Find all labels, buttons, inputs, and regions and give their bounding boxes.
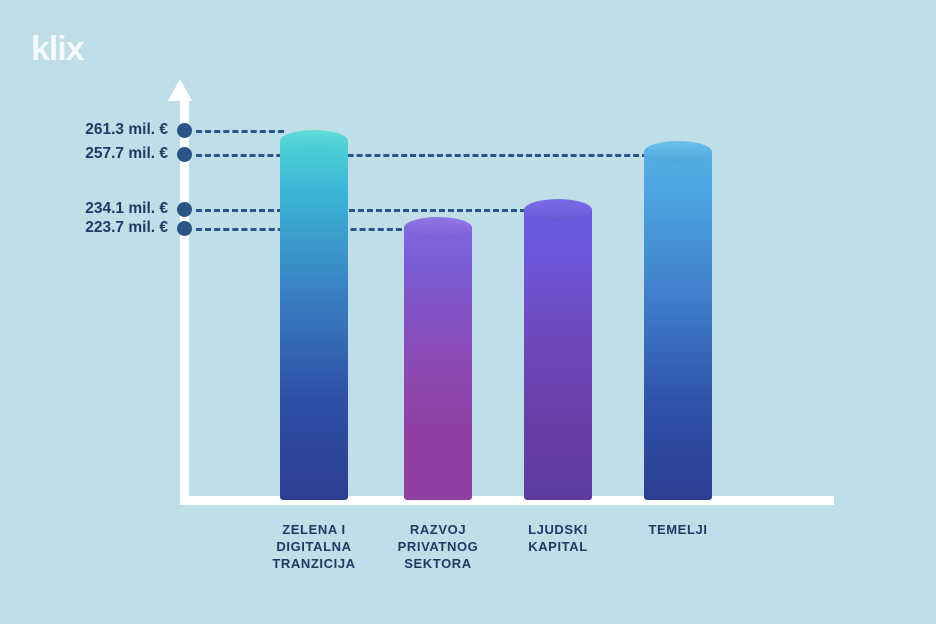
category-label-temelji: TEMELJI <box>593 521 763 538</box>
value-label-257: 257.7 mil. € <box>0 146 168 162</box>
annotation-dash-257 <box>196 154 648 157</box>
annotation-dash-261 <box>196 130 284 133</box>
annotation-dot-234 <box>177 202 192 217</box>
bar-cap-ellipse <box>644 141 712 163</box>
bar-chart-infographic: klix 261.3 mil. € 257.7 mil. € 234.1 mil… <box>0 0 936 624</box>
bar-cap-ellipse <box>524 199 592 221</box>
klix-logo: klix <box>31 30 121 68</box>
bar-zelena-i-digitalna-tranzicija <box>280 130 348 500</box>
bar-razvoj-privatnog-sektora <box>404 217 472 500</box>
bar-body <box>404 228 472 500</box>
annotation-dot-223 <box>177 221 192 236</box>
annotation-dash-234 <box>196 209 526 212</box>
bar-ljudski-kapital <box>524 199 592 500</box>
bar-body <box>644 152 712 500</box>
annotation-dot-261 <box>177 123 192 138</box>
x-axis-line <box>180 496 834 505</box>
value-label-261: 261.3 mil. € <box>0 122 168 138</box>
category-label-line: KAPITAL <box>473 538 643 555</box>
category-label-line: TEMELJI <box>593 521 763 538</box>
bar-cap-ellipse <box>280 130 348 152</box>
bar-temelji <box>644 141 712 500</box>
value-label-234: 234.1 mil. € <box>0 201 168 217</box>
bar-cap-ellipse <box>404 217 472 239</box>
annotation-dot-257 <box>177 147 192 162</box>
bar-body <box>280 141 348 500</box>
y-axis-arrow-icon <box>168 79 192 101</box>
value-label-223: 223.7 mil. € <box>0 220 168 236</box>
bar-body <box>524 210 592 500</box>
category-label-line: SEKTORA <box>353 555 523 572</box>
